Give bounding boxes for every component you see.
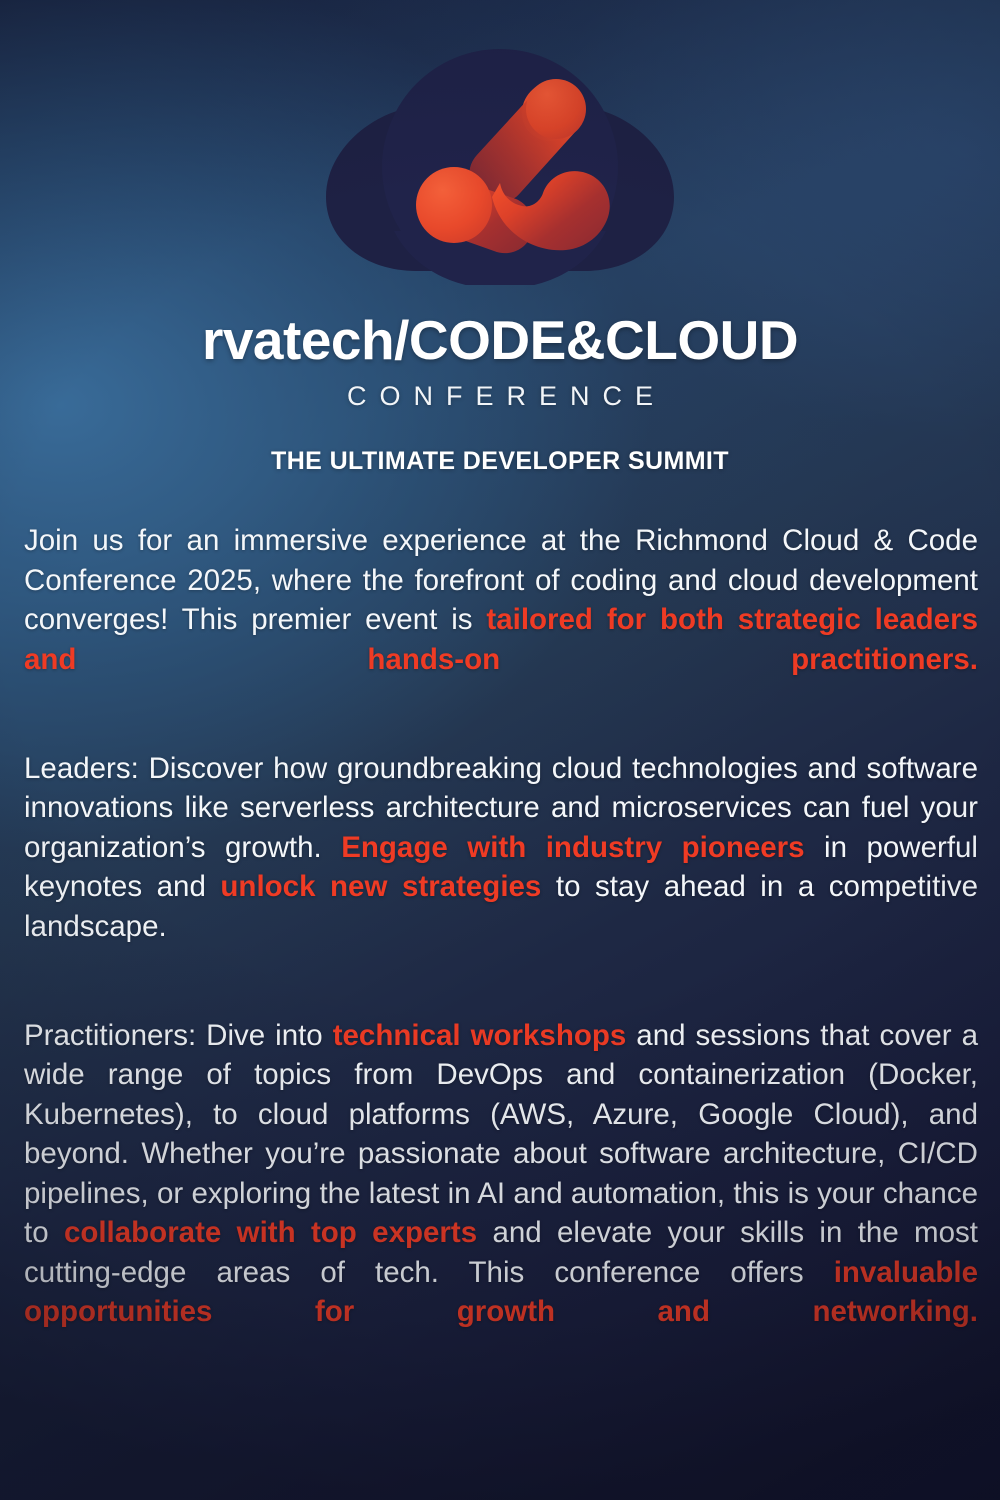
body-copy: Join us for an immersive experience at t…	[24, 521, 978, 1371]
page-subtitle: CONFERENCE	[0, 383, 1000, 410]
intro-paragraph: Join us for an immersive experience at t…	[24, 521, 978, 719]
body-text: Practitioners: Dive into	[24, 1019, 333, 1052]
tagline: THE ULTIMATE DEVELOPER SUMMIT	[0, 447, 1000, 476]
highlighted-text: collaborate with top experts	[64, 1216, 477, 1249]
rvatech-cloud-logo-icon	[304, 45, 696, 285]
wordmark: rvatech/CODE&CLOUD CONFERENCE	[0, 312, 1000, 410]
leaders-paragraph: Leaders: Discover how groundbreaking clo…	[24, 749, 978, 986]
highlighted-text: unlock new strategies	[220, 870, 541, 903]
highlighted-text: technical workshops	[333, 1019, 627, 1052]
practitioners-paragraph: Practitioners: Dive into technical works…	[24, 1016, 978, 1372]
conference-poster: rvatech/CODE&CLOUD CONFERENCE THE ULTIMA…	[0, 0, 1000, 1500]
highlighted-text: Engage with industry pioneers	[341, 831, 804, 864]
logo-container	[0, 34, 1000, 296]
body-text: and sessions that cover a wide range of …	[24, 1019, 978, 1250]
page-title: rvatech/CODE&CLOUD	[0, 312, 1000, 369]
